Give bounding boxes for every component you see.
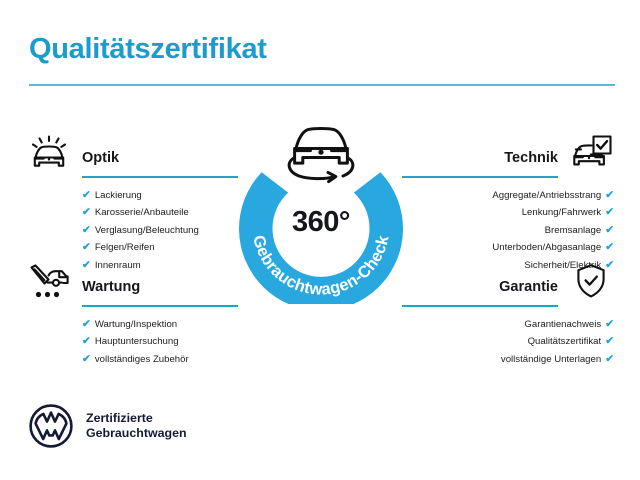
section-header-garantie: Garantie	[402, 262, 614, 304]
checklist-technik: Aggregate/Antriebsstrang✔ Lenkung/Fahrwe…	[402, 187, 614, 274]
car-shine-icon	[26, 133, 72, 175]
section-technik: Technik Aggregate/Antriebsstrang✔ Lenkun…	[402, 133, 614, 274]
checklist-optik: ✔Lackierung ✔Karosserie/Anbauteile ✔Verg…	[26, 187, 238, 274]
check-icon: ✔	[82, 224, 91, 236]
section-divider-optik	[82, 176, 238, 178]
check-icon: ✔	[82, 335, 91, 347]
section-header-optik: Optik	[26, 133, 238, 175]
check-icon: ✔	[605, 206, 614, 218]
list-item: Aggregate/Antriebsstrang✔	[402, 187, 614, 204]
checklist-garantie: Garantienachweis✔ Qualitätszertifikat✔ v…	[402, 316, 614, 368]
section-title-garantie: Garantie	[499, 279, 558, 295]
list-item: Garantienachweis✔	[402, 316, 614, 333]
list-item-label: Qualitätszertifikat	[528, 336, 602, 347]
check-icon: ✔	[82, 206, 91, 218]
footer-vw-lockup: Zertifizierte Gebrauchtwagen	[29, 404, 187, 448]
list-item-label: Hauptuntersuchung	[95, 336, 179, 347]
car-rotate-icon	[289, 129, 353, 182]
list-item-label: Karosserie/Anbauteile	[95, 207, 189, 218]
list-item: Bremsanlage✔	[402, 222, 614, 239]
footer-text: Zertifizierte Gebrauchtwagen	[86, 411, 187, 442]
list-item: Qualitätszertifikat✔	[402, 333, 614, 350]
section-divider-garantie	[402, 305, 558, 307]
list-item: ✔Hauptuntersuchung	[26, 333, 238, 350]
shield-check-icon	[568, 262, 614, 304]
badge-value: 360°	[236, 206, 406, 239]
check-icon: ✔	[605, 353, 614, 365]
check-icon: ✔	[82, 189, 91, 201]
list-item: ✔Lackierung	[26, 187, 238, 204]
check-icon: ✔	[605, 318, 614, 330]
check-icon: ✔	[82, 241, 91, 253]
list-item: ✔vollständiges Zubehör	[26, 351, 238, 368]
list-item-label: Bremsanlage	[545, 225, 602, 236]
list-item-label: Lackierung	[95, 190, 142, 201]
list-item-label: Felgen/Reifen	[95, 242, 155, 253]
list-item-label: Unterboden/Abgasanlage	[492, 242, 601, 253]
list-item: vollständige Unterlagen✔	[402, 351, 614, 368]
list-item-label: Lenkung/Fahrwerk	[522, 207, 601, 218]
badge-360-gebrauchtwagen-check: Gebrauchtwagen-Check 360°	[236, 122, 406, 304]
qualitaetszertifikat-page: Qualitätszertifikat Optik	[0, 0, 640, 480]
list-item: ✔Verglasung/Beleuchtung	[26, 222, 238, 239]
check-icon: ✔	[605, 189, 614, 201]
wrench-car-icon	[26, 262, 72, 304]
list-item: ✔Karosserie/Anbauteile	[26, 204, 238, 221]
list-item-label: Garantienachweis	[524, 319, 601, 330]
volkswagen-logo	[29, 404, 73, 448]
section-optik: Optik ✔Lackierung ✔Karosserie/Anbauteile…	[26, 133, 238, 274]
list-item-label: Aggregate/Antriebsstrang	[492, 190, 601, 201]
section-title-wartung: Wartung	[82, 279, 140, 295]
section-title-optik: Optik	[82, 150, 119, 166]
section-header-technik: Technik	[402, 133, 614, 175]
list-item: ✔Wartung/Inspektion	[26, 316, 238, 333]
header-divider	[29, 84, 615, 86]
check-icon: ✔	[605, 224, 614, 236]
check-icon: ✔	[605, 241, 614, 253]
check-icon: ✔	[605, 335, 614, 347]
page-title: Qualitätszertifikat	[29, 33, 267, 66]
section-divider-technik	[402, 176, 558, 178]
list-item-label: vollständiges Zubehör	[95, 354, 189, 365]
section-title-technik: Technik	[504, 150, 558, 166]
check-icon: ✔	[82, 318, 91, 330]
section-garantie: Garantie Garantienachweis✔ Qualitätszert…	[402, 262, 614, 368]
checklist-wartung: ✔Wartung/Inspektion ✔Hauptuntersuchung ✔…	[26, 316, 238, 368]
list-item: ✔Felgen/Reifen	[26, 239, 238, 256]
section-header-wartung: Wartung	[26, 262, 238, 304]
list-item-label: vollständige Unterlagen	[501, 354, 601, 365]
list-item-label: Wartung/Inspektion	[95, 319, 177, 330]
list-item-label: Verglasung/Beleuchtung	[95, 225, 199, 236]
check-icon: ✔	[82, 353, 91, 365]
list-item: Unterboden/Abgasanlage✔	[402, 239, 614, 256]
car-checkbox-icon	[568, 133, 614, 175]
section-wartung: Wartung ✔Wartung/Inspektion ✔Hauptunters…	[26, 262, 238, 368]
section-divider-wartung	[82, 305, 238, 307]
list-item: Lenkung/Fahrwerk✔	[402, 204, 614, 221]
